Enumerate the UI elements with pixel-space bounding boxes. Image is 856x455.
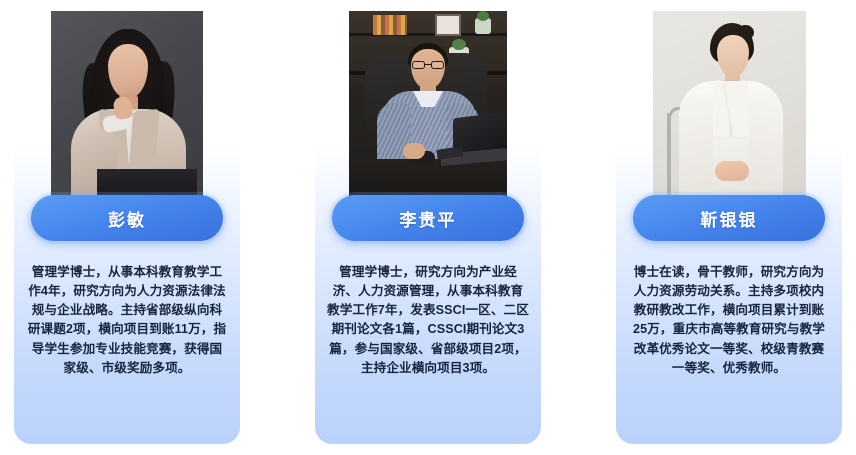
name-badge-label: 李贵平	[400, 206, 457, 231]
profile-description: 博士在读，骨干教师，研究方向为人力资源劳动关系。主持多项校内教研教改工作，横向项…	[628, 263, 830, 378]
name-badge[interactable]: 彭敏	[31, 195, 223, 241]
portrait-photo	[349, 11, 507, 197]
profile-card[interactable]: 李贵平 管理学博士，研究方向为产业经济、人力资源管理，从事本科教育教学工作7年，…	[315, 0, 541, 444]
portrait-photo-wrap	[14, 11, 240, 201]
portrait-photo	[653, 11, 806, 201]
profile-card-board: 彭敏 管理学博士，从事本科教育教学工作4年，研究方向为人力资源法律法规与企业战略…	[0, 0, 856, 455]
portrait-photo-wrap	[315, 11, 541, 197]
profile-card[interactable]: 靳银银 博士在读，骨干教师，研究方向为人力资源劳动关系。主持多项校内教研教改工作…	[616, 0, 842, 444]
profile-description: 管理学博士，研究方向为产业经济、人力资源管理，从事本科教育教学工作7年，发表SS…	[327, 263, 529, 378]
profile-description: 管理学博士，从事本科教育教学工作4年，研究方向为人力资源法律法规与企业战略。主持…	[26, 263, 228, 378]
portrait-photo	[51, 11, 203, 201]
profile-card[interactable]: 彭敏 管理学博士，从事本科教育教学工作4年，研究方向为人力资源法律法规与企业战略…	[14, 0, 240, 444]
name-badge[interactable]: 李贵平	[332, 195, 524, 241]
portrait-photo-wrap	[616, 11, 842, 201]
name-badge[interactable]: 靳银银	[633, 195, 825, 241]
name-badge-label: 彭敏	[108, 206, 146, 231]
name-badge-label: 靳银银	[701, 206, 758, 231]
